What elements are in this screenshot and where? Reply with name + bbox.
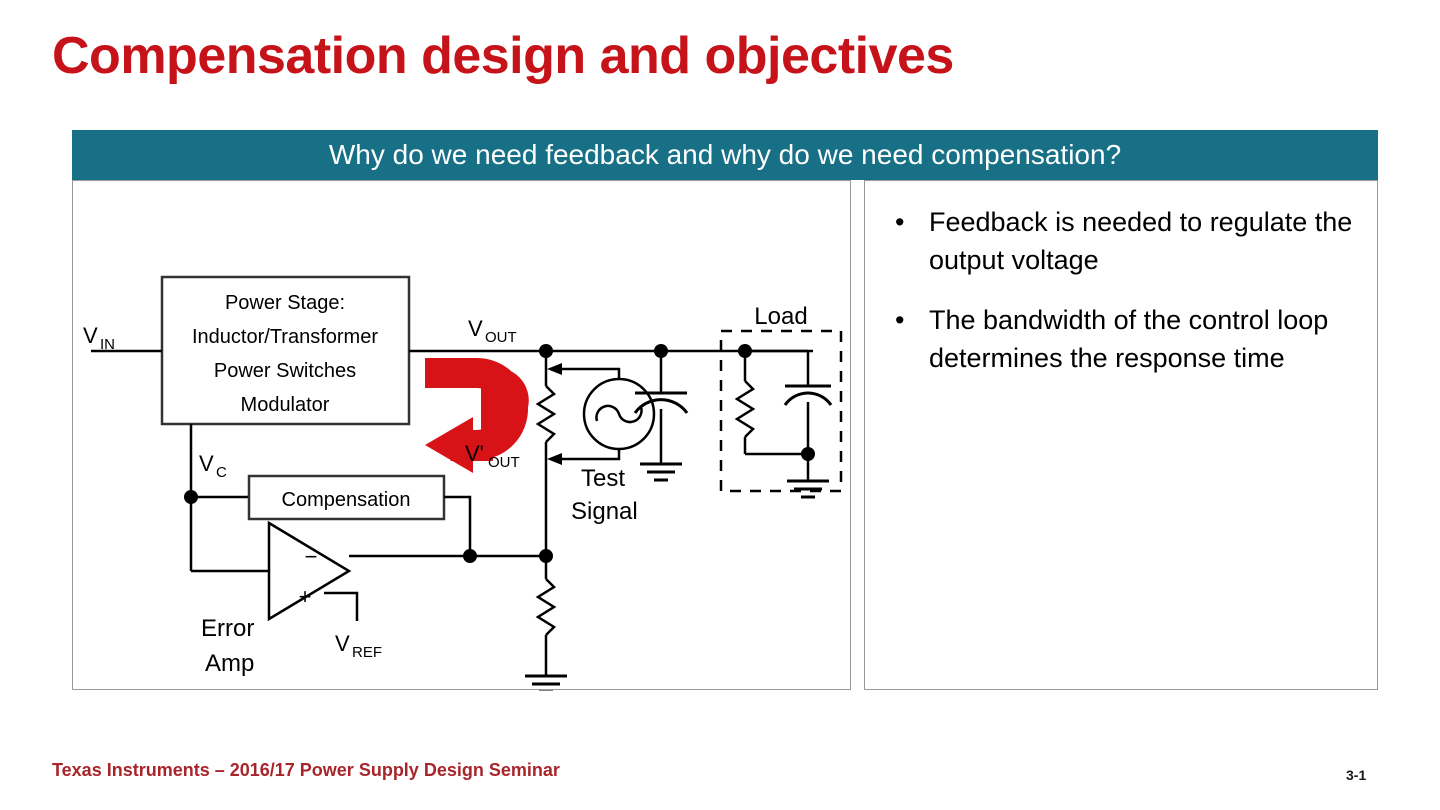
load-bottom-node-dot [801,447,815,461]
error-amp-label-line1: Error [201,615,254,642]
compensation-feedback-wire [444,497,470,556]
power-stage-line1: Power Stage: [225,292,345,314]
power-stage-line3: Power Switches [214,360,356,382]
vc-label: V [199,451,214,476]
ac-lead-lower-arrowhead [547,453,562,465]
slide-canvas: Compensation design and objectives Why d… [0,0,1440,810]
test-label: Test [581,465,625,492]
load-resistor [737,381,753,437]
vin-label: V [83,323,98,348]
ac-source-lead-lower [562,449,619,459]
list-item: • The bandwidth of the control loop dete… [883,301,1361,377]
power-stage-line2: Inductor/Transformer [192,326,378,348]
section-header-bar: Why do we need feedback and why do we ne… [72,130,1378,180]
load-label: Load [754,303,807,330]
output-cap-ground-symbol [640,464,682,480]
content-frame: Why do we need feedback and why do we ne… [72,130,1378,690]
error-amp-minus-input-label: − [305,544,318,569]
vout-prime-label: V' [465,441,484,466]
load-ground-symbol [787,481,829,497]
bullet-marker-icon: • [895,203,904,241]
bullets-panel: • Feedback is needed to regulate the out… [864,180,1378,690]
bullet-marker-icon: • [895,301,904,339]
power-stage-line4: Modulator [241,394,330,416]
vc-label-subscript: C [216,464,227,481]
vref-label: V [335,631,350,656]
feedback-resistor-upper [538,386,554,442]
footer-seminar-text: Texas Instruments – 2016/17 Power Supply… [52,760,560,781]
vin-label-subscript: IN [100,336,115,353]
vref-label-subscript: REF [352,644,382,661]
page-title: Compensation design and objectives [52,26,954,86]
circuit-diagram: Power Stage: Inductor/Transformer Power … [73,181,852,691]
section-header-text: Why do we need feedback and why do we ne… [72,139,1378,171]
error-amp-plus-input-label: + [299,584,312,609]
compensation-feedback-node-dot [463,549,477,563]
error-amp-label-line2: Amp [205,650,254,677]
vref-wire [324,593,357,621]
circuit-panel: Power Stage: Inductor/Transformer Power … [72,180,851,690]
sine-wave-icon [596,406,641,422]
compensation-label: Compensation [282,489,411,511]
page-number: 3-1 [1346,767,1366,783]
signal-label: Signal [571,498,638,525]
bullet-list: • Feedback is needed to regulate the out… [883,203,1361,399]
load-dashed-boundary [721,331,841,491]
list-item: • Feedback is needed to regulate the out… [883,203,1361,279]
bullet-text: The bandwidth of the control loop determ… [929,305,1328,373]
vout-label-subscript: OUT [485,329,517,346]
divider-ground-symbol [525,676,567,691]
feedback-resistor-lower [538,579,554,635]
vout-label: V [468,316,483,341]
bullet-text: Feedback is needed to regulate the outpu… [929,207,1352,275]
vout-prime-label-subscript: OUT [488,454,520,471]
ac-lead-upper-arrowhead [547,363,562,375]
ac-source-lead-upper [562,369,619,379]
